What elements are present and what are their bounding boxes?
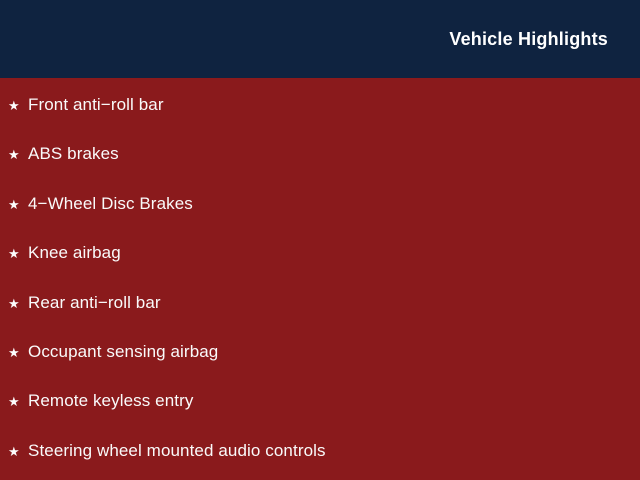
list-item: ★ Occupant sensing airbag: [0, 343, 640, 392]
star-icon: ★: [8, 297, 28, 310]
highlight-label: Rear anti−roll bar: [28, 294, 161, 311]
list-item: ★ ABS brakes: [0, 145, 640, 194]
list-item: ★ Steering wheel mounted audio controls: [0, 442, 640, 480]
star-icon: ★: [8, 148, 28, 161]
highlight-label: Knee airbag: [28, 244, 121, 261]
list-item: ★ Remote keyless entry: [0, 392, 640, 441]
star-icon: ★: [8, 247, 28, 260]
highlight-label: Occupant sensing airbag: [28, 343, 218, 360]
list-item: ★ Front anti−roll bar: [0, 96, 640, 145]
star-icon: ★: [8, 346, 28, 359]
highlight-label: ABS brakes: [28, 145, 119, 162]
star-icon: ★: [8, 445, 28, 458]
list-item: ★ 4−Wheel Disc Brakes: [0, 195, 640, 244]
list-item: ★ Rear anti−roll bar: [0, 294, 640, 343]
highlight-label: Front anti−roll bar: [28, 96, 164, 113]
highlight-label: Remote keyless entry: [28, 392, 193, 409]
highlights-list: ★ Front anti−roll bar ★ ABS brakes ★ 4−W…: [0, 96, 640, 480]
star-icon: ★: [8, 99, 28, 112]
star-icon: ★: [8, 198, 28, 211]
page-title: Vehicle Highlights: [449, 30, 608, 48]
header-band: Vehicle Highlights: [0, 0, 640, 78]
list-item: ★ Knee airbag: [0, 244, 640, 293]
highlight-label: Steering wheel mounted audio controls: [28, 442, 326, 459]
star-icon: ★: [8, 395, 28, 408]
highlight-label: 4−Wheel Disc Brakes: [28, 195, 193, 212]
vehicle-highlights-slide: Vehicle Highlights ★ Front anti−roll bar…: [0, 0, 640, 480]
highlights-panel: ★ Front anti−roll bar ★ ABS brakes ★ 4−W…: [0, 78, 640, 480]
